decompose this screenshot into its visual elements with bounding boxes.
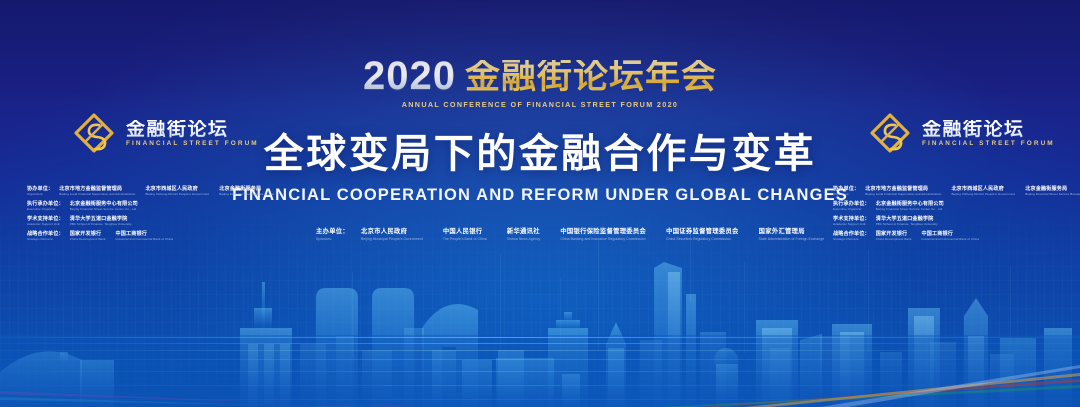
- sponsor-item: 新华通讯社Xinhua News Agency: [507, 228, 540, 241]
- sponsor-item: 国家开发银行China Development Bank: [70, 231, 106, 242]
- sponsor-item-en: Beijing Financial Street Service Bureau: [219, 193, 274, 197]
- sponsor-item-en: Beijing Municipal People's Government: [361, 237, 423, 241]
- sponsor-row-label: 协办单位：Organizers:: [833, 186, 859, 197]
- sponsor-item: 北京金融街服务中心有限公司Beijing Financial Street Se…: [876, 201, 944, 212]
- title-en-subtitle: ANNUAL CONFERENCE OF FINANCIAL STREET FO…: [0, 100, 1080, 109]
- sponsor-item-zh: 北京市人民政府: [361, 228, 423, 237]
- sponsor-item-en: Beijing Financial Street Service Bureau: [1025, 193, 1080, 197]
- sponsor-item-en: China Securities Regulatory Commission: [666, 237, 739, 241]
- sponsor-label-en: Academic Support Unit:: [27, 223, 64, 227]
- forum-logo-left-en: FINANCIAL STREET FORUM: [126, 141, 259, 147]
- sponsor-label-en: Executive Organizer:: [27, 208, 64, 212]
- sponsor-label-zh: 主办单位：: [316, 228, 349, 237]
- sponsor-item-en: China Development Bank: [876, 238, 912, 242]
- fsf-diamond-monogram-icon: [868, 112, 912, 156]
- sponsor-row: 学术支持单位：Academic Support Unit:清华大学五道口金融学院…: [27, 216, 274, 227]
- sponsor-block-right: 协办单位：Organizers:北京市地方金融监督管理局Beijing Loca…: [833, 186, 1080, 246]
- sponsor-label-en: Organizers:: [27, 193, 53, 197]
- sponsor-item: 国家开发银行China Development Bank: [876, 231, 912, 242]
- forum-logo-right-zh: 金融街论坛: [922, 120, 1055, 139]
- sponsor-row-label: 协办单位：Organizers:: [27, 186, 53, 197]
- sponsor-label-en: Sponsors:: [316, 237, 349, 241]
- sponsor-item-en: State Administration of Foreign Exchange: [759, 237, 825, 241]
- sponsor-item-en: China Banking and Insurance Regulatory C…: [560, 237, 646, 241]
- sponsor-item-en: China Development Bank: [70, 238, 106, 242]
- forum-logo-right-text: 金融街论坛 FINANCIAL STREET FORUM: [922, 120, 1055, 147]
- sponsor-item: 中国人民银行The People's Bank of China: [443, 228, 487, 241]
- sponsor-row: 协办单位：Organizers:北京市地方金融监督管理局Beijing Loca…: [27, 186, 274, 197]
- sponsor-item: 北京市西城区人民政府Beijing Xicheng District Peopl…: [951, 186, 1015, 197]
- sponsor-label-en: Strategic Partners:: [27, 238, 64, 242]
- event-title-block: 2020 金融街论坛年会 ANNUAL CONFERENCE OF FINANC…: [0, 58, 1080, 109]
- sponsor-item-en: Beijing Local Financial Supervision and …: [59, 193, 135, 197]
- sponsor-item: 北京金融街服务局Beijing Financial Street Service…: [1025, 186, 1080, 197]
- sponsor-item: 中国证券监督管理委员会China Securities Regulatory C…: [666, 228, 739, 241]
- sponsor-item: 北京金融街服务局Beijing Financial Street Service…: [219, 186, 274, 197]
- sponsor-item: 清华大学五道口金融学院PBC School of Finance, Tsingh…: [70, 216, 132, 227]
- sponsor-block-center: 主办单位：Sponsors:北京市人民政府Beijing Municipal P…: [316, 228, 844, 245]
- sponsor-label-en: Academic Support Unit:: [833, 223, 870, 227]
- sponsor-item: 北京市地方金融监督管理局Beijing Local Financial Supe…: [865, 186, 941, 197]
- sponsor-item-zh: 中国证券监督管理委员会: [666, 228, 739, 237]
- sponsor-row-label: 学术支持单位：Academic Support Unit:: [833, 216, 870, 227]
- ground-light-streaks: [0, 335, 1080, 407]
- sponsor-item-en: PBC School of Finance, Tsinghua Universi…: [70, 223, 132, 227]
- sponsor-item: 中国银行保险监督管理委员会China Banking and Insurance…: [560, 228, 646, 241]
- sponsor-row: 战略合作单位：Strategic Partners:国家开发银行China De…: [27, 231, 274, 242]
- sponsor-row: 执行承办单位：Executive Organizer:北京金融街服务中心有限公司…: [27, 201, 274, 212]
- forum-logo-left: 金融街论坛 FINANCIAL STREET FORUM: [72, 112, 259, 156]
- sponsor-item-en: Beijing Xicheng District People's Govern…: [145, 193, 209, 197]
- sponsor-row-label: 学术支持单位：Academic Support Unit:: [27, 216, 64, 227]
- sponsor-item-en: Beijing Financial Street Service Center …: [876, 208, 944, 212]
- sponsor-item-zh: 中国银行保险监督管理委员会: [560, 228, 646, 237]
- sponsor-item: 北京市地方金融监督管理局Beijing Local Financial Supe…: [59, 186, 135, 197]
- forum-logo-left-zh: 金融街论坛: [126, 120, 259, 139]
- sponsor-label-en: Executive Organizer:: [833, 208, 870, 212]
- title-year: 2020: [363, 58, 456, 95]
- sponsor-row: 学术支持单位：Academic Support Unit:清华大学五道口金融学院…: [833, 216, 1080, 227]
- sponsor-item: 中国工商银行Industrial and Commercial Bank of …: [116, 231, 174, 242]
- sponsor-row-label: 战略合作单位：Strategic Partners:: [27, 231, 64, 242]
- sponsor-item: 中国工商银行Industrial and Commercial Bank of …: [922, 231, 980, 242]
- sponsor-item-en: Beijing Xicheng District People's Govern…: [951, 193, 1015, 197]
- sponsor-item-en: Beijing Financial Street Service Center …: [70, 208, 138, 212]
- sponsor-item-en: Industrial and Commercial Bank of China: [922, 238, 980, 242]
- title-zh: 金融街论坛年会: [465, 60, 717, 95]
- forum-logo-right: 金融街论坛 FINANCIAL STREET FORUM: [868, 112, 1055, 156]
- sponsor-item-zh: 中国人民银行: [443, 228, 487, 237]
- sponsor-row-label: 主办单位：Sponsors:: [316, 228, 349, 241]
- forum-logo-right-en: FINANCIAL STREET FORUM: [922, 141, 1055, 147]
- title-main-line: 2020 金融街论坛年会: [363, 58, 717, 95]
- sponsor-row: 协办单位：Organizers:北京市地方金融监督管理局Beijing Loca…: [833, 186, 1080, 197]
- sponsor-item: 北京金融街服务中心有限公司Beijing Financial Street Se…: [70, 201, 138, 212]
- sponsor-item: 北京市西城区人民政府Beijing Xicheng District Peopl…: [145, 186, 209, 197]
- sponsor-row: 战略合作单位：Strategic Partners:国家开发银行China De…: [833, 231, 1080, 242]
- sponsor-row-label: 执行承办单位：Executive Organizer:: [833, 201, 870, 212]
- forum-logo-left-text: 金融街论坛 FINANCIAL STREET FORUM: [126, 120, 259, 147]
- conference-backdrop: 2020 金融街论坛年会 ANNUAL CONFERENCE OF FINANC…: [0, 0, 1080, 407]
- sponsor-item-zh: 新华通讯社: [507, 228, 540, 237]
- sponsor-block-left: 协办单位：Organizers:北京市地方金融监督管理局Beijing Loca…: [27, 186, 274, 246]
- sponsor-item: 北京市人民政府Beijing Municipal People's Govern…: [361, 228, 423, 241]
- sponsor-item-en: Beijing Local Financial Supervision and …: [865, 193, 941, 197]
- city-skyline-graphic: [0, 232, 1080, 407]
- sponsor-item-en: The People's Bank of China: [443, 237, 487, 241]
- fsf-diamond-monogram-icon: [72, 112, 116, 156]
- sponsor-item-en: PBC School of Finance, Tsinghua Universi…: [876, 223, 938, 227]
- sponsor-row: 主办单位：Sponsors:北京市人民政府Beijing Municipal P…: [316, 228, 844, 241]
- sponsor-item: 清华大学五道口金融学院PBC School of Finance, Tsingh…: [876, 216, 938, 227]
- sponsor-row-label: 执行承办单位：Executive Organizer:: [27, 201, 64, 212]
- sponsor-row: 执行承办单位：Executive Organizer:北京金融街服务中心有限公司…: [833, 201, 1080, 212]
- sponsor-item: 国家外汇管理局State Administration of Foreign E…: [759, 228, 825, 241]
- sponsor-item-en: Industrial and Commercial Bank of China: [116, 238, 174, 242]
- sponsor-item-en: Xinhua News Agency: [507, 237, 540, 241]
- sponsor-label-en: Organizers:: [833, 193, 859, 197]
- sponsor-item-zh: 国家外汇管理局: [759, 228, 825, 237]
